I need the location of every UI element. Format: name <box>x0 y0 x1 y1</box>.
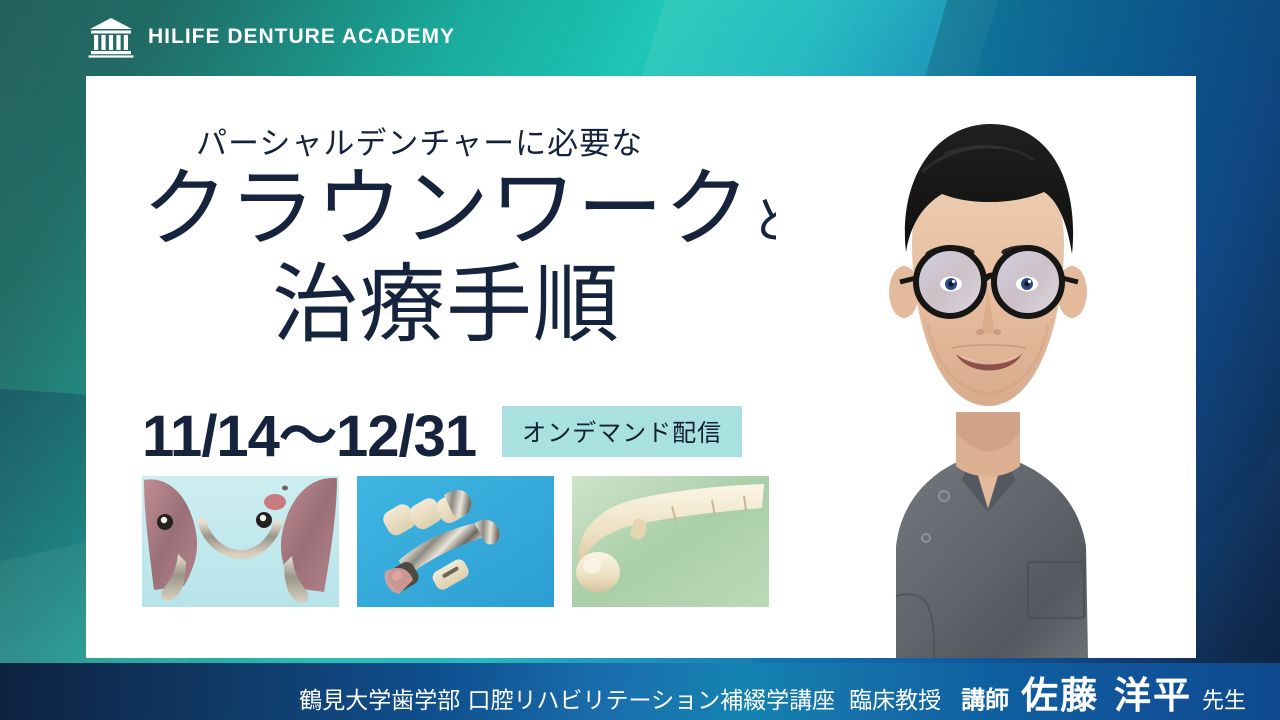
seminar-promo-slide: HILIFE DENTURE ACADEMY パーシャルデンチャーに必要な クラ… <box>0 0 1280 720</box>
presenter-lecturer-label: 講師 <box>961 680 1009 715</box>
presenter-role: 臨床教授 <box>849 681 941 715</box>
photo-lower-partial-denture-framework <box>142 476 339 607</box>
photo-strip <box>142 476 769 607</box>
photo-metal-crown-clasp-casework <box>357 476 554 607</box>
brand-name: HILIFE DENTURE ACADEMY <box>148 25 455 49</box>
seminar-title-line-1: クラウンワークと <box>142 166 801 252</box>
classical-building-icon <box>88 16 134 58</box>
presenter-name: 佐藤 洋平 <box>1021 665 1192 719</box>
content-card: パーシャルデンチャーに必要な クラウンワークと 治療手順 11/14〜12/31… <box>86 76 1196 658</box>
presenter-affiliation: 鶴見大学歯学部 口腔リハビリテーション補綴学講座 <box>299 681 835 715</box>
photo-ceramic-bridge-restoration <box>572 476 769 607</box>
on-demand-badge: オンデマンド配信 <box>502 406 742 457</box>
presenter-credit-inner: 鶴見大学歯学部 口腔リハビリテーション補綴学講座 臨床教授 講師 佐藤 洋平 先… <box>299 665 1246 719</box>
date-row: 11/14〜12/31 オンデマンド配信 <box>142 389 742 473</box>
presenter-portrait <box>776 76 1196 658</box>
brand-header: HILIFE DENTURE ACADEMY <box>88 16 455 58</box>
seminar-title-main: クラウンワーク <box>142 159 751 259</box>
seminar-date-range: 11/14〜12/31 <box>142 389 476 473</box>
seminar-title-line-2: 治療手順 <box>272 262 620 348</box>
presenter-credit-bar: 鶴見大学歯学部 口腔リハビリテーション補綴学講座 臨床教授 講師 佐藤 洋平 先… <box>0 663 1280 720</box>
seminar-subtitle: パーシャルデンチャーに必要な <box>196 118 643 163</box>
presenter-honorific: 先生 <box>1202 683 1246 715</box>
